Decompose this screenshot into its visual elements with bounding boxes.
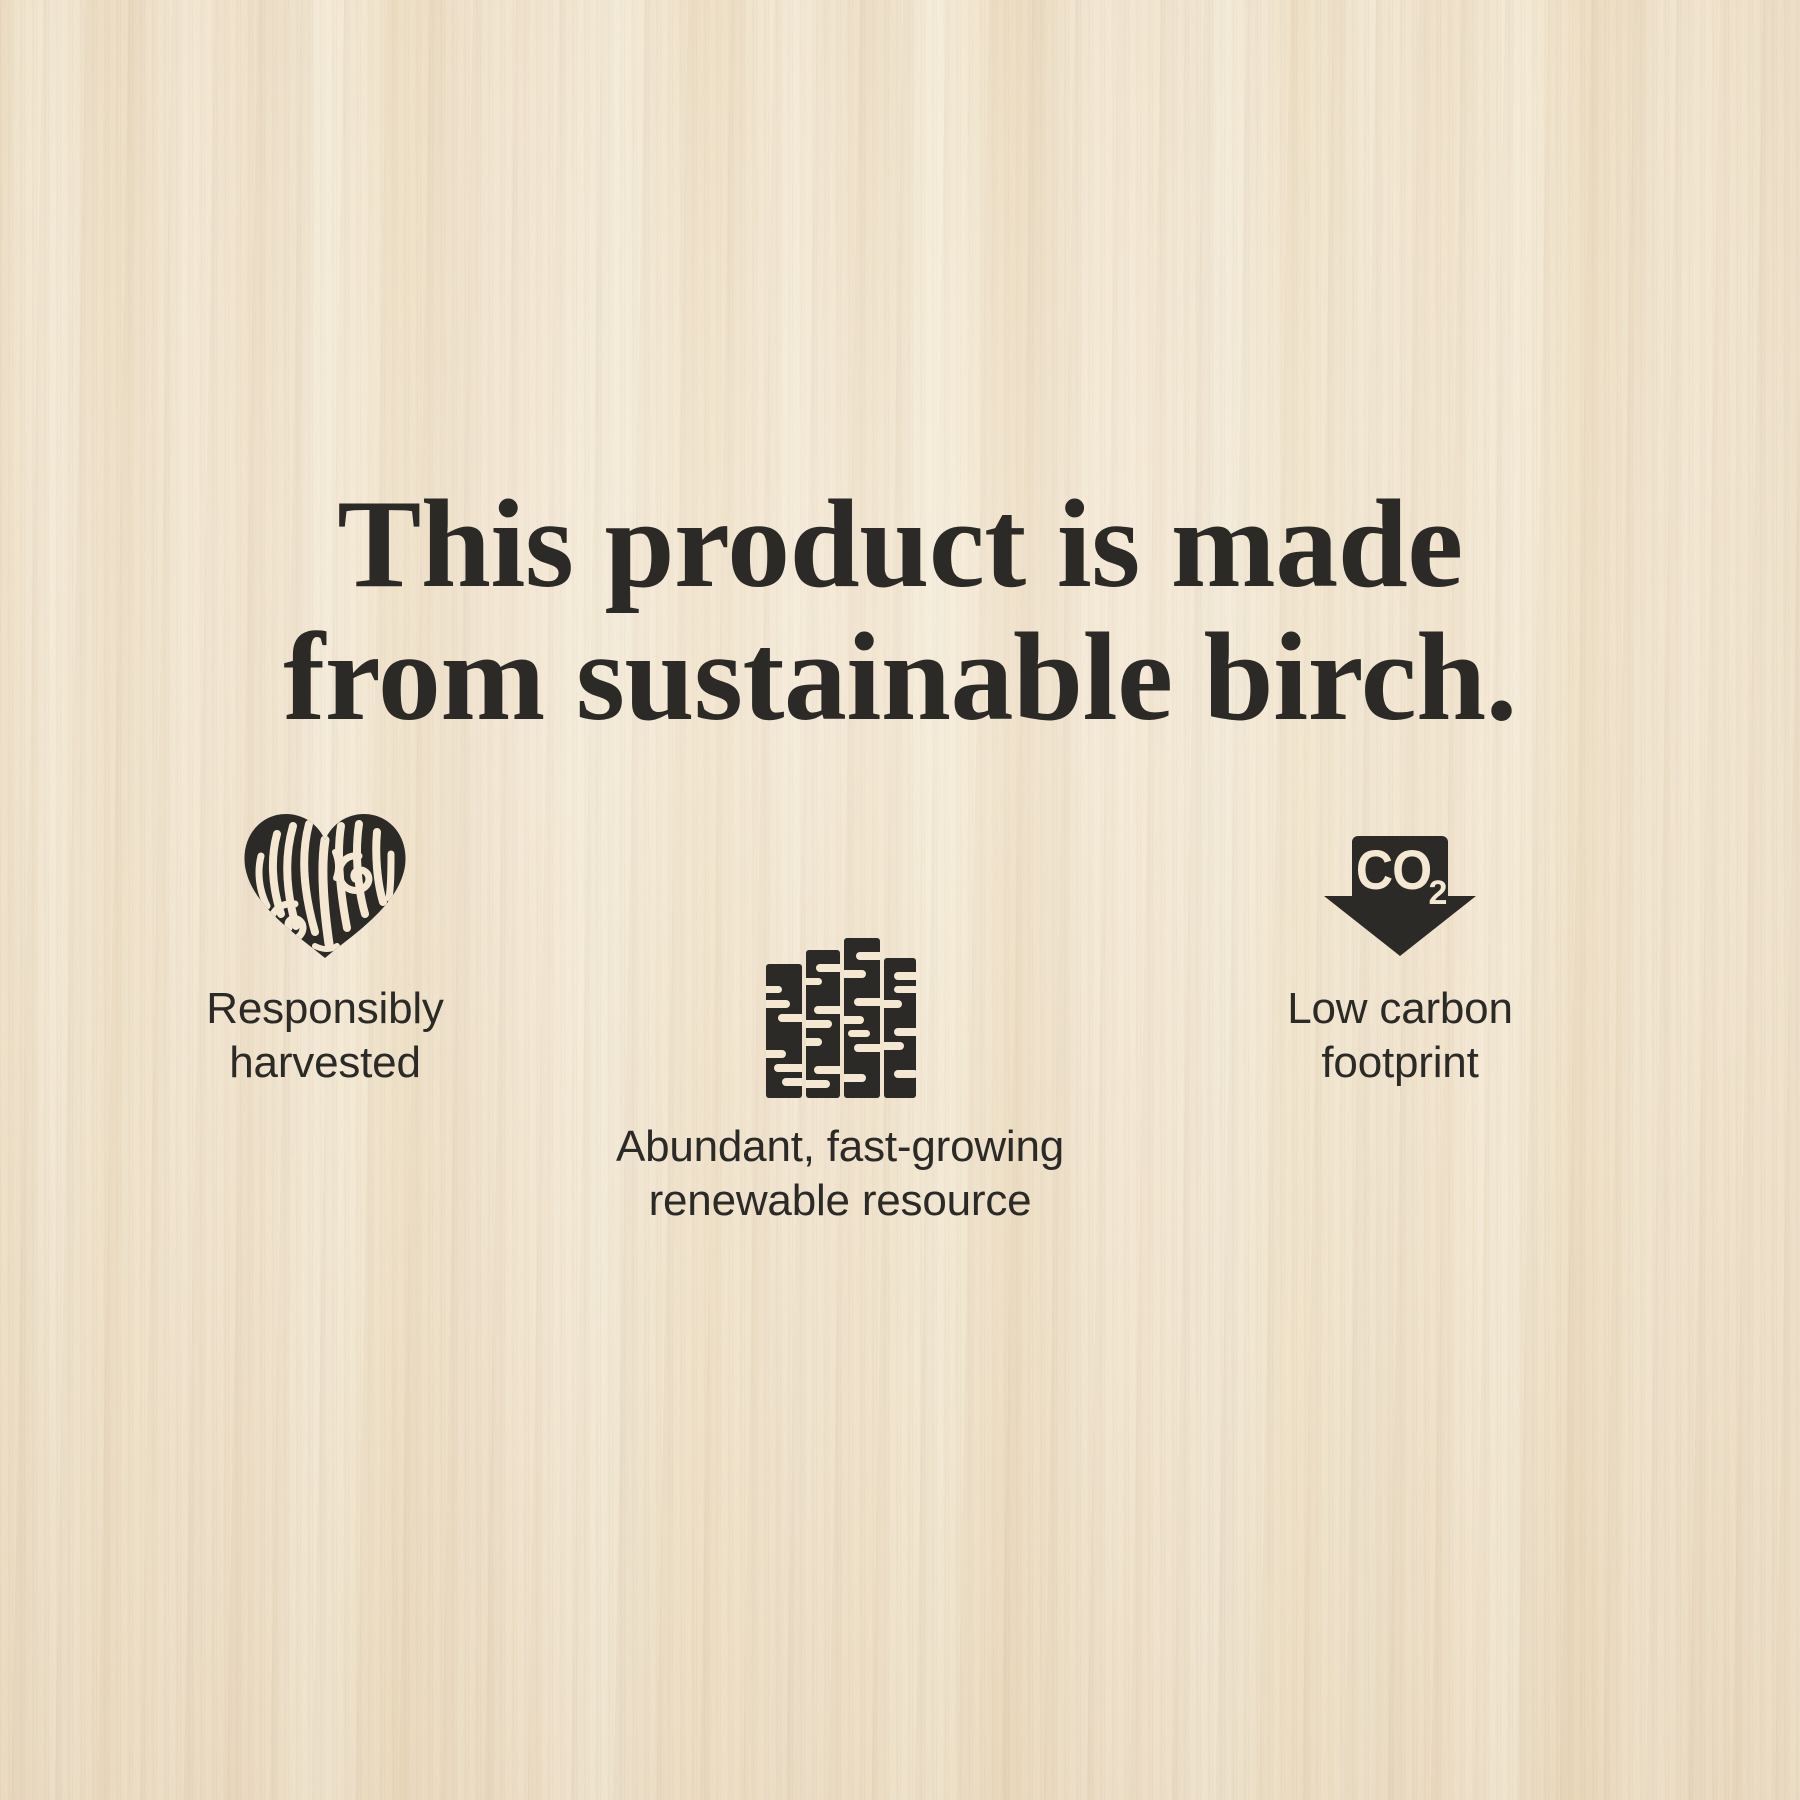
page-title: This product is made from sustainable bi… [0,478,1800,745]
co2-down-arrow-icon: CO 2 [1320,832,1480,960]
co2-label-main: CO [1356,839,1431,901]
feature-icon-container [110,810,540,960]
wood-grain-heart-icon [241,810,409,960]
headline-line-1: This product is made [120,478,1680,612]
feature-icon-container [550,928,1130,1098]
feature-responsibly-harvested: Responsibly harvested [110,810,540,1089]
feature-caption-line-2: footprint [1130,1036,1670,1090]
feature-caption: Responsibly harvested [110,982,540,1089]
feature-caption: Low carbon footprint [1130,982,1670,1089]
feature-low-carbon-footprint: CO 2 Low carbon footprint [1130,802,1670,1089]
birch-trunks-icon [764,938,916,1098]
feature-caption-line-1: Abundant, fast-growing [550,1120,1130,1174]
headline-line-2: from sustainable birch. [120,611,1680,745]
co2-label-subscript: 2 [1429,874,1448,912]
feature-list: Responsibly harvested [70,780,1730,1300]
feature-caption: Abundant, fast-growing renewable resourc… [550,1120,1130,1227]
sustainability-graphic: This product is made from sustainable bi… [0,0,1800,1800]
feature-caption-line-2: harvested [110,1036,540,1090]
feature-caption-line-1: Low carbon [1130,982,1670,1036]
feature-icon-container: CO 2 [1130,802,1670,960]
feature-renewable-resource: Abundant, fast-growing renewable resourc… [550,928,1130,1227]
feature-caption-line-2: renewable resource [550,1174,1130,1228]
feature-caption-line-1: Responsibly [110,982,540,1036]
